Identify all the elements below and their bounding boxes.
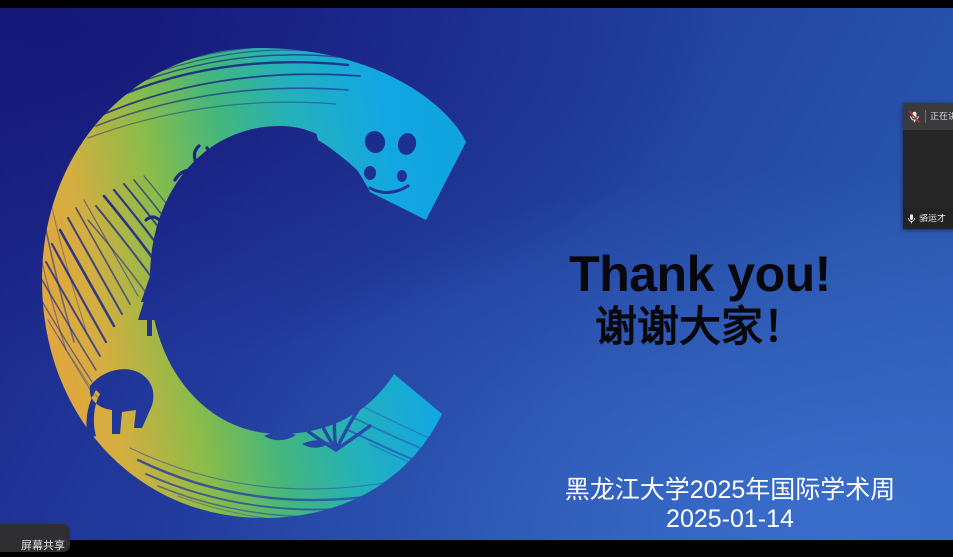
slide-footer-date: 2025-01-14 (520, 505, 940, 534)
status-bar-divider (925, 110, 926, 123)
participant-name-label: 骆运才 (919, 214, 946, 223)
speaking-status-text: 正在讲 (930, 112, 953, 121)
letterbox-bar-top (0, 0, 953, 8)
microphone-muted-icon[interactable] (908, 110, 921, 124)
presentation-slide: Thank you! 谢谢大家！ 黑龙江大学2025年国际学术周 2025-01… (0, 8, 953, 540)
screen-share-view: Thank you! 谢谢大家！ 黑龙江大学2025年国际学术周 2025-01… (0, 0, 953, 557)
video-panel-status-bar[interactable]: 正在讲 (903, 103, 953, 130)
slide-footer-organization: 黑龙江大学2025年国际学术周 (520, 476, 940, 505)
slide-headline-cn: 谢谢大家！ (500, 303, 900, 350)
video-feed-area[interactable] (903, 130, 953, 208)
participant-name-bar: 骆运才 (903, 208, 953, 229)
wwf-panda-crescent-artwork (18, 30, 488, 530)
slide-headline-en: Thank you! (500, 248, 900, 300)
participant-video-panel[interactable]: 正在讲 骆运才 (903, 103, 953, 229)
microphone-icon[interactable] (907, 213, 916, 225)
letterbox-bar-bottom (0, 540, 953, 557)
screen-share-indicator[interactable]: 屏幕共享 (0, 524, 70, 552)
